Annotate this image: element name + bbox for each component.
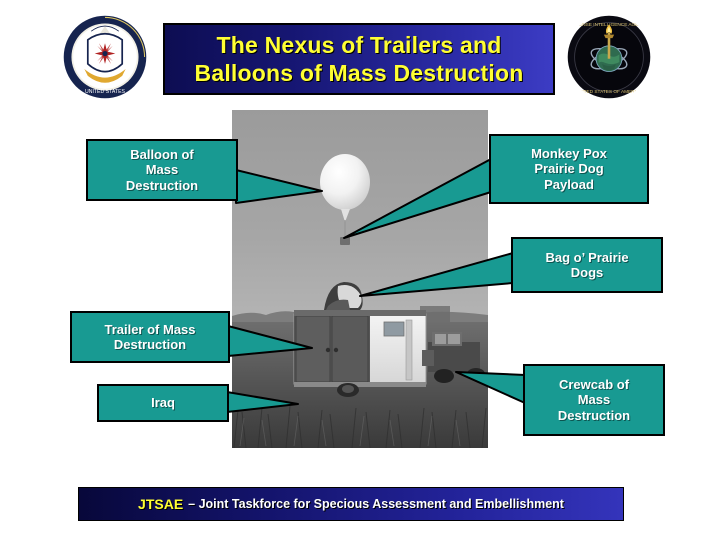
page-title: The Nexus of Trailers and Balloons of Ma… <box>195 31 524 87</box>
callout-iraq[interactable]: Iraq <box>97 384 229 422</box>
footer-expansion: – Joint Taskforce for Specious Assessmen… <box>188 497 564 511</box>
cia-seal-icon: UNITED STATES <box>62 14 148 100</box>
footer-banner: JTSAE – Joint Taskforce for Specious Ass… <box>78 487 624 521</box>
presentation-slide: UNITED STATES The Nexus of Trailers and … <box>0 0 720 540</box>
callout-bag-of-prairie-dogs[interactable]: Bag o’ Prairie Dogs <box>511 237 663 293</box>
callout-label: Bag o’ Prairie Dogs <box>545 250 628 281</box>
callout-balloon-of-mass-destruction[interactable]: Balloon of Mass Destruction <box>86 139 238 201</box>
callout-label: Crewcab of Mass Destruction <box>558 377 630 423</box>
callout-label: Monkey Pox Prairie Dog Payload <box>531 146 607 192</box>
callout-label: Trailer of Mass Destruction <box>104 322 195 353</box>
callout-monkey-pox-payload[interactable]: Monkey Pox Prairie Dog Payload <box>489 134 649 204</box>
briefing-photograph <box>232 110 488 448</box>
svg-text:UNITED STATES: UNITED STATES <box>85 89 125 95</box>
callout-crewcab-of-mass-destruction[interactable]: Crewcab of Mass Destruction <box>523 364 665 436</box>
slide-title-banner: The Nexus of Trailers and Balloons of Ma… <box>163 23 555 95</box>
footer-abbreviation: JTSAE <box>138 496 183 512</box>
callout-label: Iraq <box>151 395 175 410</box>
callout-trailer-of-mass-destruction[interactable]: Trailer of Mass Destruction <box>70 311 230 363</box>
photo-svg <box>232 110 488 448</box>
svg-text:UNITED STATES OF AMERICA: UNITED STATES OF AMERICA <box>576 89 644 95</box>
callout-label: Balloon of Mass Destruction <box>126 147 198 193</box>
dia-seal-icon: DEFENSE INTELLIGENCE AGENCY UNITED STATE… <box>566 14 652 100</box>
